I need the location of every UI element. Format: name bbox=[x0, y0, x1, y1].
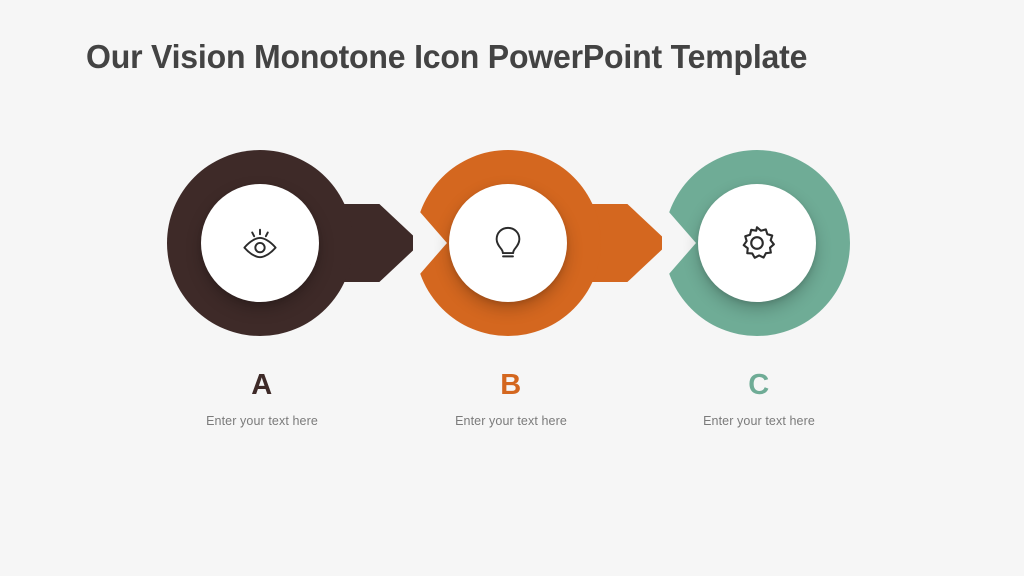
step-caption-a: A Enter your text here bbox=[132, 368, 392, 428]
step-placeholder-text-b[interactable]: Enter your text here bbox=[381, 414, 641, 428]
eye-icon bbox=[238, 221, 282, 265]
gear-icon bbox=[735, 221, 779, 265]
page-title: Our Vision Monotone Icon PowerPoint Temp… bbox=[86, 38, 807, 76]
step-letter-c: C bbox=[629, 368, 889, 402]
slide-canvas: Our Vision Monotone Icon PowerPoint Temp… bbox=[0, 0, 1024, 576]
step-caption-b: B Enter your text here bbox=[381, 368, 641, 428]
step-icon-badge-a bbox=[201, 184, 319, 302]
step-icon-badge-b bbox=[449, 184, 567, 302]
step-icon-badge-c bbox=[698, 184, 816, 302]
step-letter-a: A bbox=[132, 368, 392, 402]
lightbulb-icon bbox=[486, 221, 530, 265]
process-step-b[interactable] bbox=[415, 150, 605, 340]
step-caption-c: C Enter your text here bbox=[629, 368, 889, 428]
step-placeholder-text-c[interactable]: Enter your text here bbox=[629, 414, 889, 428]
process-step-a[interactable] bbox=[167, 150, 357, 340]
process-step-c[interactable] bbox=[664, 150, 854, 340]
step-placeholder-text-a[interactable]: Enter your text here bbox=[132, 414, 392, 428]
step-letter-b: B bbox=[381, 368, 641, 402]
